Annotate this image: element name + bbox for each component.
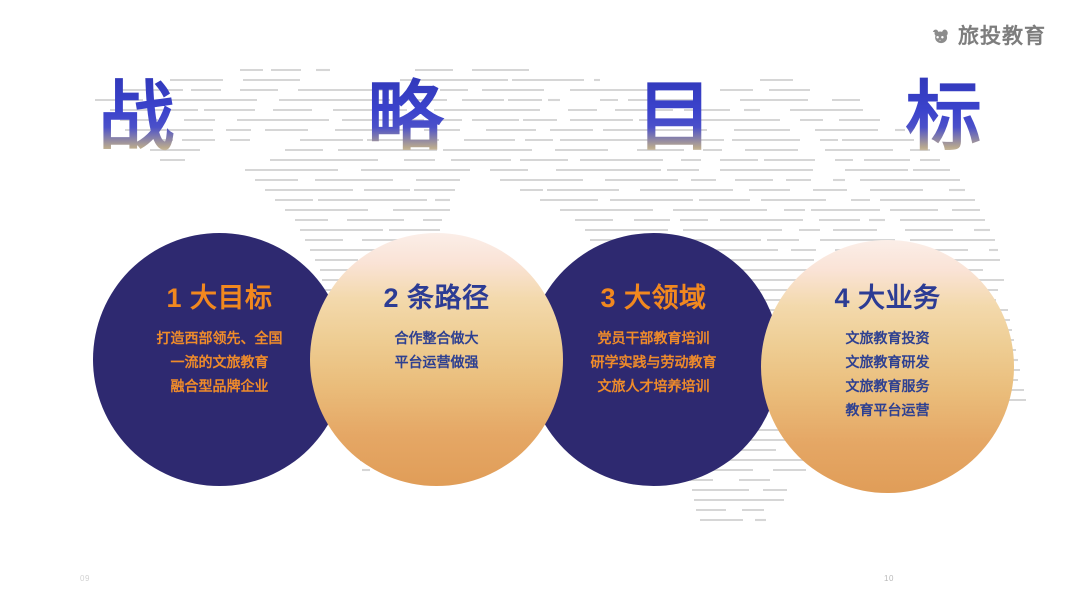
circle-1-line-3: 融合型品牌企业 <box>157 374 283 398</box>
circle-4-heading: 4 大业务 <box>834 281 940 315</box>
strategy-circle-group: 1 大目标 打造西部领先、全国 一流的文旅教育 融合型品牌企业 3 大领域 党员… <box>0 0 1080 608</box>
circle-3-body: 党员干部教育培训 研学实践与劳动教育 文旅人才培养培训 <box>591 326 717 398</box>
page-number-left: 09 <box>80 574 90 583</box>
circle-1-body: 打造西部领先、全国 一流的文旅教育 融合型品牌企业 <box>157 326 283 398</box>
strategy-circle-3[interactable]: 3 大领域 党员干部教育培训 研学实践与劳动教育 文旅人才培养培训 <box>527 233 780 486</box>
circle-2-line-2: 平台运营做强 <box>395 350 479 374</box>
circle-2-body: 合作整合做大 平台运营做强 <box>395 326 479 374</box>
circle-1-heading: 1 大目标 <box>166 281 272 315</box>
circle-4-line-2: 文旅教育研发 <box>846 350 930 374</box>
circle-1-line-2: 一流的文旅教育 <box>157 350 283 374</box>
circle-3-line-2: 研学实践与劳动教育 <box>591 350 717 374</box>
circle-3-line-3: 文旅人才培养培训 <box>591 374 717 398</box>
circle-4-line-3: 文旅教育服务 <box>846 374 930 398</box>
slide-canvas: 旅投教育 战 略 目 标 1 大目标 打造西部领先、全国 一流的文旅教育 融合型… <box>0 0 1080 608</box>
circle-4-line-1: 文旅教育投资 <box>846 326 930 350</box>
strategy-circle-2[interactable]: 2 条路径 合作整合做大 平台运营做强 <box>310 233 563 486</box>
circle-2-line-1: 合作整合做大 <box>395 326 479 350</box>
strategy-circle-1[interactable]: 1 大目标 打造西部领先、全国 一流的文旅教育 融合型品牌企业 <box>93 233 346 486</box>
circle-4-line-4: 教育平台运营 <box>846 398 930 422</box>
circle-3-line-1: 党员干部教育培训 <box>591 326 717 350</box>
circle-4-body: 文旅教育投资 文旅教育研发 文旅教育服务 教育平台运营 <box>846 326 930 422</box>
page-number-right: 10 <box>884 574 894 583</box>
strategy-circle-4[interactable]: 4 大业务 文旅教育投资 文旅教育研发 文旅教育服务 教育平台运营 <box>761 240 1014 493</box>
circle-3-heading: 3 大领域 <box>600 281 706 315</box>
circle-1-line-1: 打造西部领先、全国 <box>157 326 283 350</box>
circle-2-heading: 2 条路径 <box>383 281 489 315</box>
